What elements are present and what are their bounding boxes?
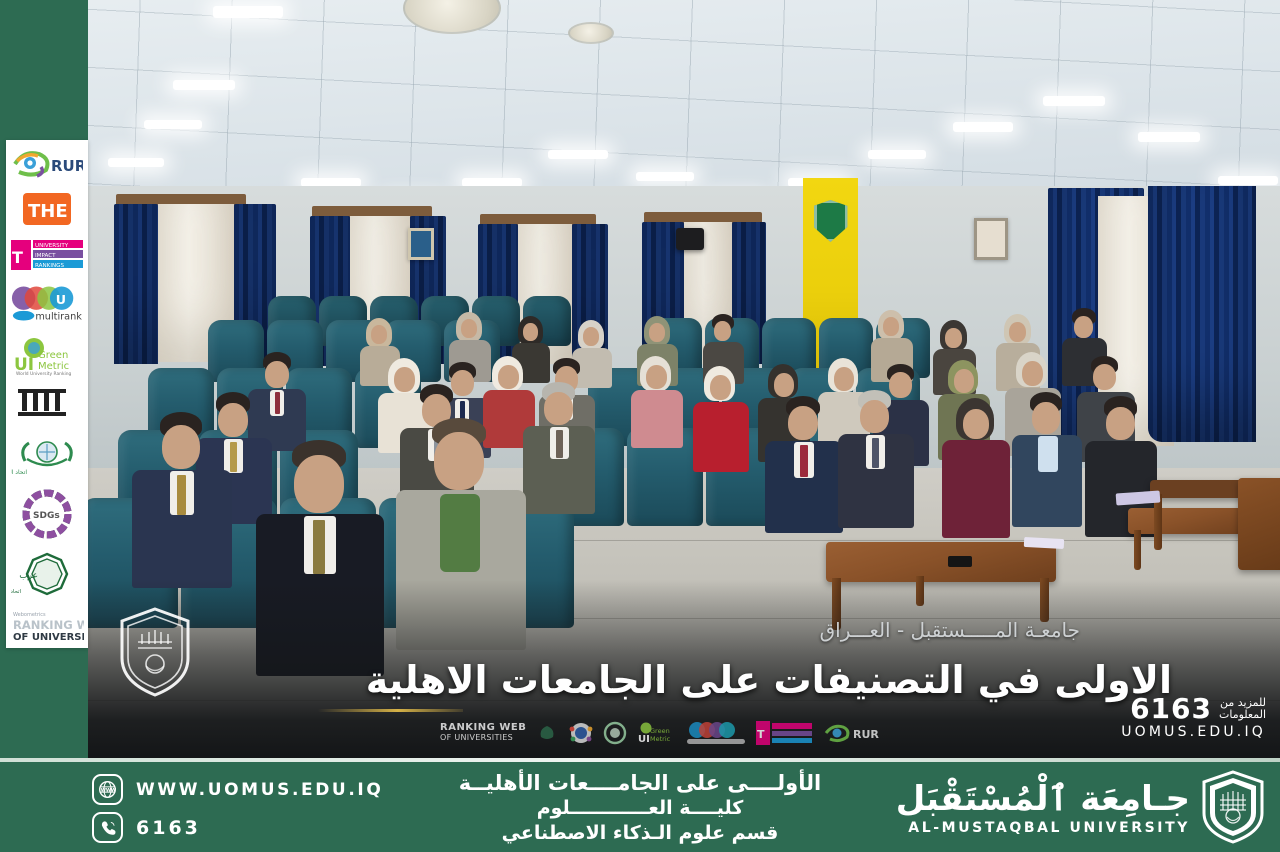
auditorium-scene: جامعـة المـــــستقبل - العـــراق الاولى … xyxy=(88,0,1280,760)
head xyxy=(371,325,387,344)
rail-item-multirank: U multirank xyxy=(10,284,84,324)
ceiling-lamp xyxy=(1218,176,1278,185)
rail-item-greenmetric: UI Green Metric World University Ranking xyxy=(10,336,84,376)
wall-speaker xyxy=(676,228,704,250)
head xyxy=(714,321,731,341)
head xyxy=(394,367,415,392)
u-multirank-logo-icon xyxy=(685,720,747,746)
caption-subtitle: جامعـة المـــــستقبل - العـــراق xyxy=(820,618,1080,642)
unesco-logo-icon xyxy=(568,720,594,746)
svg-text:UNIVERSITY: UNIVERSITY xyxy=(35,243,69,249)
footer-center-text: الأولــــى على الجامــــعات الأهليــة كل… xyxy=(400,770,880,846)
head xyxy=(1106,407,1135,440)
more-info-number: 6163 xyxy=(1130,696,1212,722)
ceiling-vent xyxy=(568,22,614,44)
university-crest-icon xyxy=(1200,770,1266,844)
head xyxy=(710,375,731,400)
brand-wordmark: جـامِعَة ٱلْمُسْتَقْبَل AL-MUSTAQBAL UNI… xyxy=(896,779,1190,836)
necktie xyxy=(800,445,808,477)
head xyxy=(498,365,519,389)
svg-text:IMPACT: IMPACT xyxy=(35,253,56,259)
head xyxy=(1022,361,1043,386)
sustainable-development-goals-logo-icon: SDGs xyxy=(19,489,75,539)
table-leg xyxy=(1134,530,1141,570)
university-crest-on-banner xyxy=(814,200,848,242)
ceiling-lamp xyxy=(1043,96,1105,106)
svg-text:UI: UI xyxy=(638,734,650,745)
head xyxy=(544,392,573,425)
rail-item-the: THE xyxy=(10,191,84,227)
head xyxy=(945,328,962,348)
webometrics-ranking-web-logo-icon: Webometrics RANKING WEB OF UNIVERSITIES xyxy=(10,608,84,642)
footer-line-2: كليــــة العــــــــــــلوم xyxy=(400,796,880,821)
ceiling-lamp xyxy=(868,150,926,159)
rail-item-arab-engineers: عرب اتحاد المهندسين العرب xyxy=(10,550,84,596)
footer-line-3: قسم علوم الـذكاء الاصطناعي xyxy=(400,821,880,846)
svg-text:SDGs: SDGs xyxy=(33,511,60,521)
head xyxy=(1093,364,1116,390)
ceiling-lamp xyxy=(213,6,283,18)
arab-universities-union-logo-icon xyxy=(603,720,627,746)
footer-line-1: الأولــــى على الجامــــعات الأهليــة xyxy=(400,770,880,796)
gold-accent-rule xyxy=(318,709,463,712)
more-info-website: UOMUS.EDU.IQ xyxy=(1121,724,1266,740)
svg-text:اتحاد المهندسين العرب: اتحاد المهندسين العرب xyxy=(11,589,21,595)
svg-text:WWW: WWW xyxy=(101,788,116,794)
caption-headline: الاولى في التصنيفات على الجامعات الاهلية xyxy=(366,658,1172,702)
necktie xyxy=(872,438,879,468)
head xyxy=(265,361,289,388)
ranking-logos-strip: RANKING WEB OF UNIVERSITIES xyxy=(440,720,879,746)
necktie xyxy=(313,520,325,574)
union-of-arab-universities-logo-icon: اتحاد الجامعات العربية xyxy=(11,435,83,477)
more-info-arabic: للمزيد من المعلومات xyxy=(1219,697,1266,721)
head xyxy=(963,409,989,439)
ceiling-lamp xyxy=(108,158,164,167)
svg-text:عرب: عرب xyxy=(19,571,38,581)
head xyxy=(583,327,599,346)
head xyxy=(434,432,484,490)
rur-ranking-logo-icon: RUR xyxy=(11,147,83,179)
wall-picture-frame xyxy=(974,218,1008,260)
head xyxy=(294,455,344,513)
head xyxy=(162,425,200,469)
svg-text:multirank: multirank xyxy=(35,312,82,323)
papers xyxy=(1024,537,1064,549)
curtain xyxy=(1148,186,1256,442)
svg-text:RUR: RUR xyxy=(853,728,879,741)
head xyxy=(774,373,794,397)
footer-website-row[interactable]: WWW WWW.UOMUS.EDU.IQ xyxy=(92,774,383,805)
svg-text:اتحاد الجامعات العربية: اتحاد الجامعات العربية xyxy=(11,469,27,476)
svg-text:T: T xyxy=(757,728,765,741)
podium xyxy=(1238,478,1280,570)
footer-brand-block: جـامِعَة ٱلْمُسْتَقْبَل AL-MUSTAQBAL UNI… xyxy=(896,770,1266,844)
head xyxy=(646,365,667,389)
rur-logo-icon: RUR xyxy=(823,720,879,746)
accreditation-logo-rail: RUR THE T UNIVERSITY IMPACT RANKINGS xyxy=(6,140,88,648)
wall-crest-plaque xyxy=(408,228,434,260)
svg-text:T: T xyxy=(12,248,23,267)
torso xyxy=(693,402,749,472)
necktie xyxy=(275,392,280,414)
ranking-web-line1: RANKING WEB xyxy=(440,723,526,733)
footer-phone-text: 6163 xyxy=(136,817,201,839)
head xyxy=(834,367,854,391)
head xyxy=(954,369,974,393)
svg-text:Green: Green xyxy=(38,350,68,361)
ceiling-lamp xyxy=(636,172,694,181)
ranking-web-line2: OF UNIVERSITIES xyxy=(440,733,513,742)
rail-item-arab-universities-union: اتحاد الجامعات العربية xyxy=(10,435,84,477)
phone-on-table xyxy=(948,556,972,567)
footer-website-text: WWW.UOMUS.EDU.IQ xyxy=(136,780,383,800)
poster-root: جامعـة المـــــستقبل - العـــراق الاولى … xyxy=(0,0,1280,852)
ceiling-lamp xyxy=(953,122,1013,132)
torso xyxy=(631,390,683,448)
svg-text:RANKING WEB: RANKING WEB xyxy=(13,618,84,632)
head xyxy=(1032,402,1060,434)
the-impact-rankings-logo-icon: T xyxy=(756,720,814,746)
more-info-arabic-line2: المعلومات xyxy=(1219,709,1266,721)
phone-icon xyxy=(92,812,123,843)
the-university-impact-rankings-logo-icon: T UNIVERSITY IMPACT RANKINGS xyxy=(10,238,84,272)
necktie xyxy=(230,442,237,472)
head xyxy=(523,323,538,341)
federation-of-arab-engineers-logo-icon: عرب اتحاد المهندسين العرب xyxy=(11,550,83,596)
necktie xyxy=(177,475,186,515)
rail-item-scimago xyxy=(10,387,84,423)
head xyxy=(1074,316,1093,338)
event-photo: جامعـة المـــــستقبل - العـــراق الاولى … xyxy=(88,0,1280,760)
ui-greenmetric-logo-icon: UI Green Metric World University Ranking xyxy=(10,336,84,376)
head xyxy=(788,406,818,440)
shirt xyxy=(440,494,480,572)
side-table xyxy=(1128,508,1256,534)
head xyxy=(451,370,474,396)
u-multirank-logo-icon: U multirank xyxy=(10,284,84,324)
ceiling-lamp xyxy=(1138,132,1200,142)
necktie xyxy=(556,430,563,458)
the-world-university-rankings-logo-icon: THE xyxy=(19,191,75,227)
svg-text:OF UNIVERSITIES: OF UNIVERSITIES xyxy=(13,632,84,642)
svg-text:THE: THE xyxy=(28,201,68,222)
scimago-institutions-rankings-logo-icon xyxy=(16,387,78,423)
scimago-logo-icon xyxy=(535,720,559,746)
head xyxy=(1009,322,1026,342)
footer-contact-block: WWW WWW.UOMUS.EDU.IQ 6163 xyxy=(92,774,383,850)
rail-item-webometrics: Webometrics RANKING WEB OF UNIVERSITIES xyxy=(10,608,84,642)
ranking-web-wordmark: RANKING WEB OF UNIVERSITIES xyxy=(440,723,526,743)
head xyxy=(218,403,248,437)
footer-banner: WWW WWW.UOMUS.EDU.IQ 6163 الأولــــى على… xyxy=(0,762,1280,852)
svg-text:RANKINGS: RANKINGS xyxy=(35,263,65,269)
head xyxy=(461,319,477,338)
brand-arabic-name: جـامِعَة ٱلْمُسْتَقْبَل xyxy=(896,779,1190,819)
rail-item-sdg: SDGs xyxy=(10,489,84,539)
svg-text:Metric: Metric xyxy=(38,361,69,372)
ceiling-lamp xyxy=(144,120,202,129)
curtain xyxy=(114,204,158,364)
svg-text:Green: Green xyxy=(650,727,670,735)
head xyxy=(860,400,889,433)
more-info-block: 6163 للمزيد من المعلومات UOMUS.EDU.IQ xyxy=(1121,696,1266,740)
shirt xyxy=(1038,436,1058,472)
svg-text:RUR: RUR xyxy=(51,157,83,175)
head xyxy=(889,372,912,398)
svg-text:World University Ranking: World University Ranking xyxy=(16,371,71,376)
svg-text:Metric: Metric xyxy=(650,735,671,743)
head xyxy=(883,317,899,336)
brand-english-name: AL-MUSTAQBAL UNIVERSITY xyxy=(896,820,1190,836)
svg-text:U: U xyxy=(56,292,66,307)
head xyxy=(649,323,665,342)
torso xyxy=(942,440,1010,538)
footer-phone-row[interactable]: 6163 xyxy=(92,812,383,843)
ceiling-lamp xyxy=(548,150,608,159)
rail-item-rur: RUR xyxy=(10,147,84,179)
coffee-table xyxy=(826,542,1056,582)
ui-greenmetric-logo-icon: UI Green Metric xyxy=(636,720,676,746)
www-globe-icon: WWW xyxy=(92,774,123,805)
crest-watermark-icon xyxy=(116,606,194,698)
rail-item-the-impact: T UNIVERSITY IMPACT RANKINGS xyxy=(10,238,84,272)
ceiling-lamp xyxy=(173,80,235,90)
